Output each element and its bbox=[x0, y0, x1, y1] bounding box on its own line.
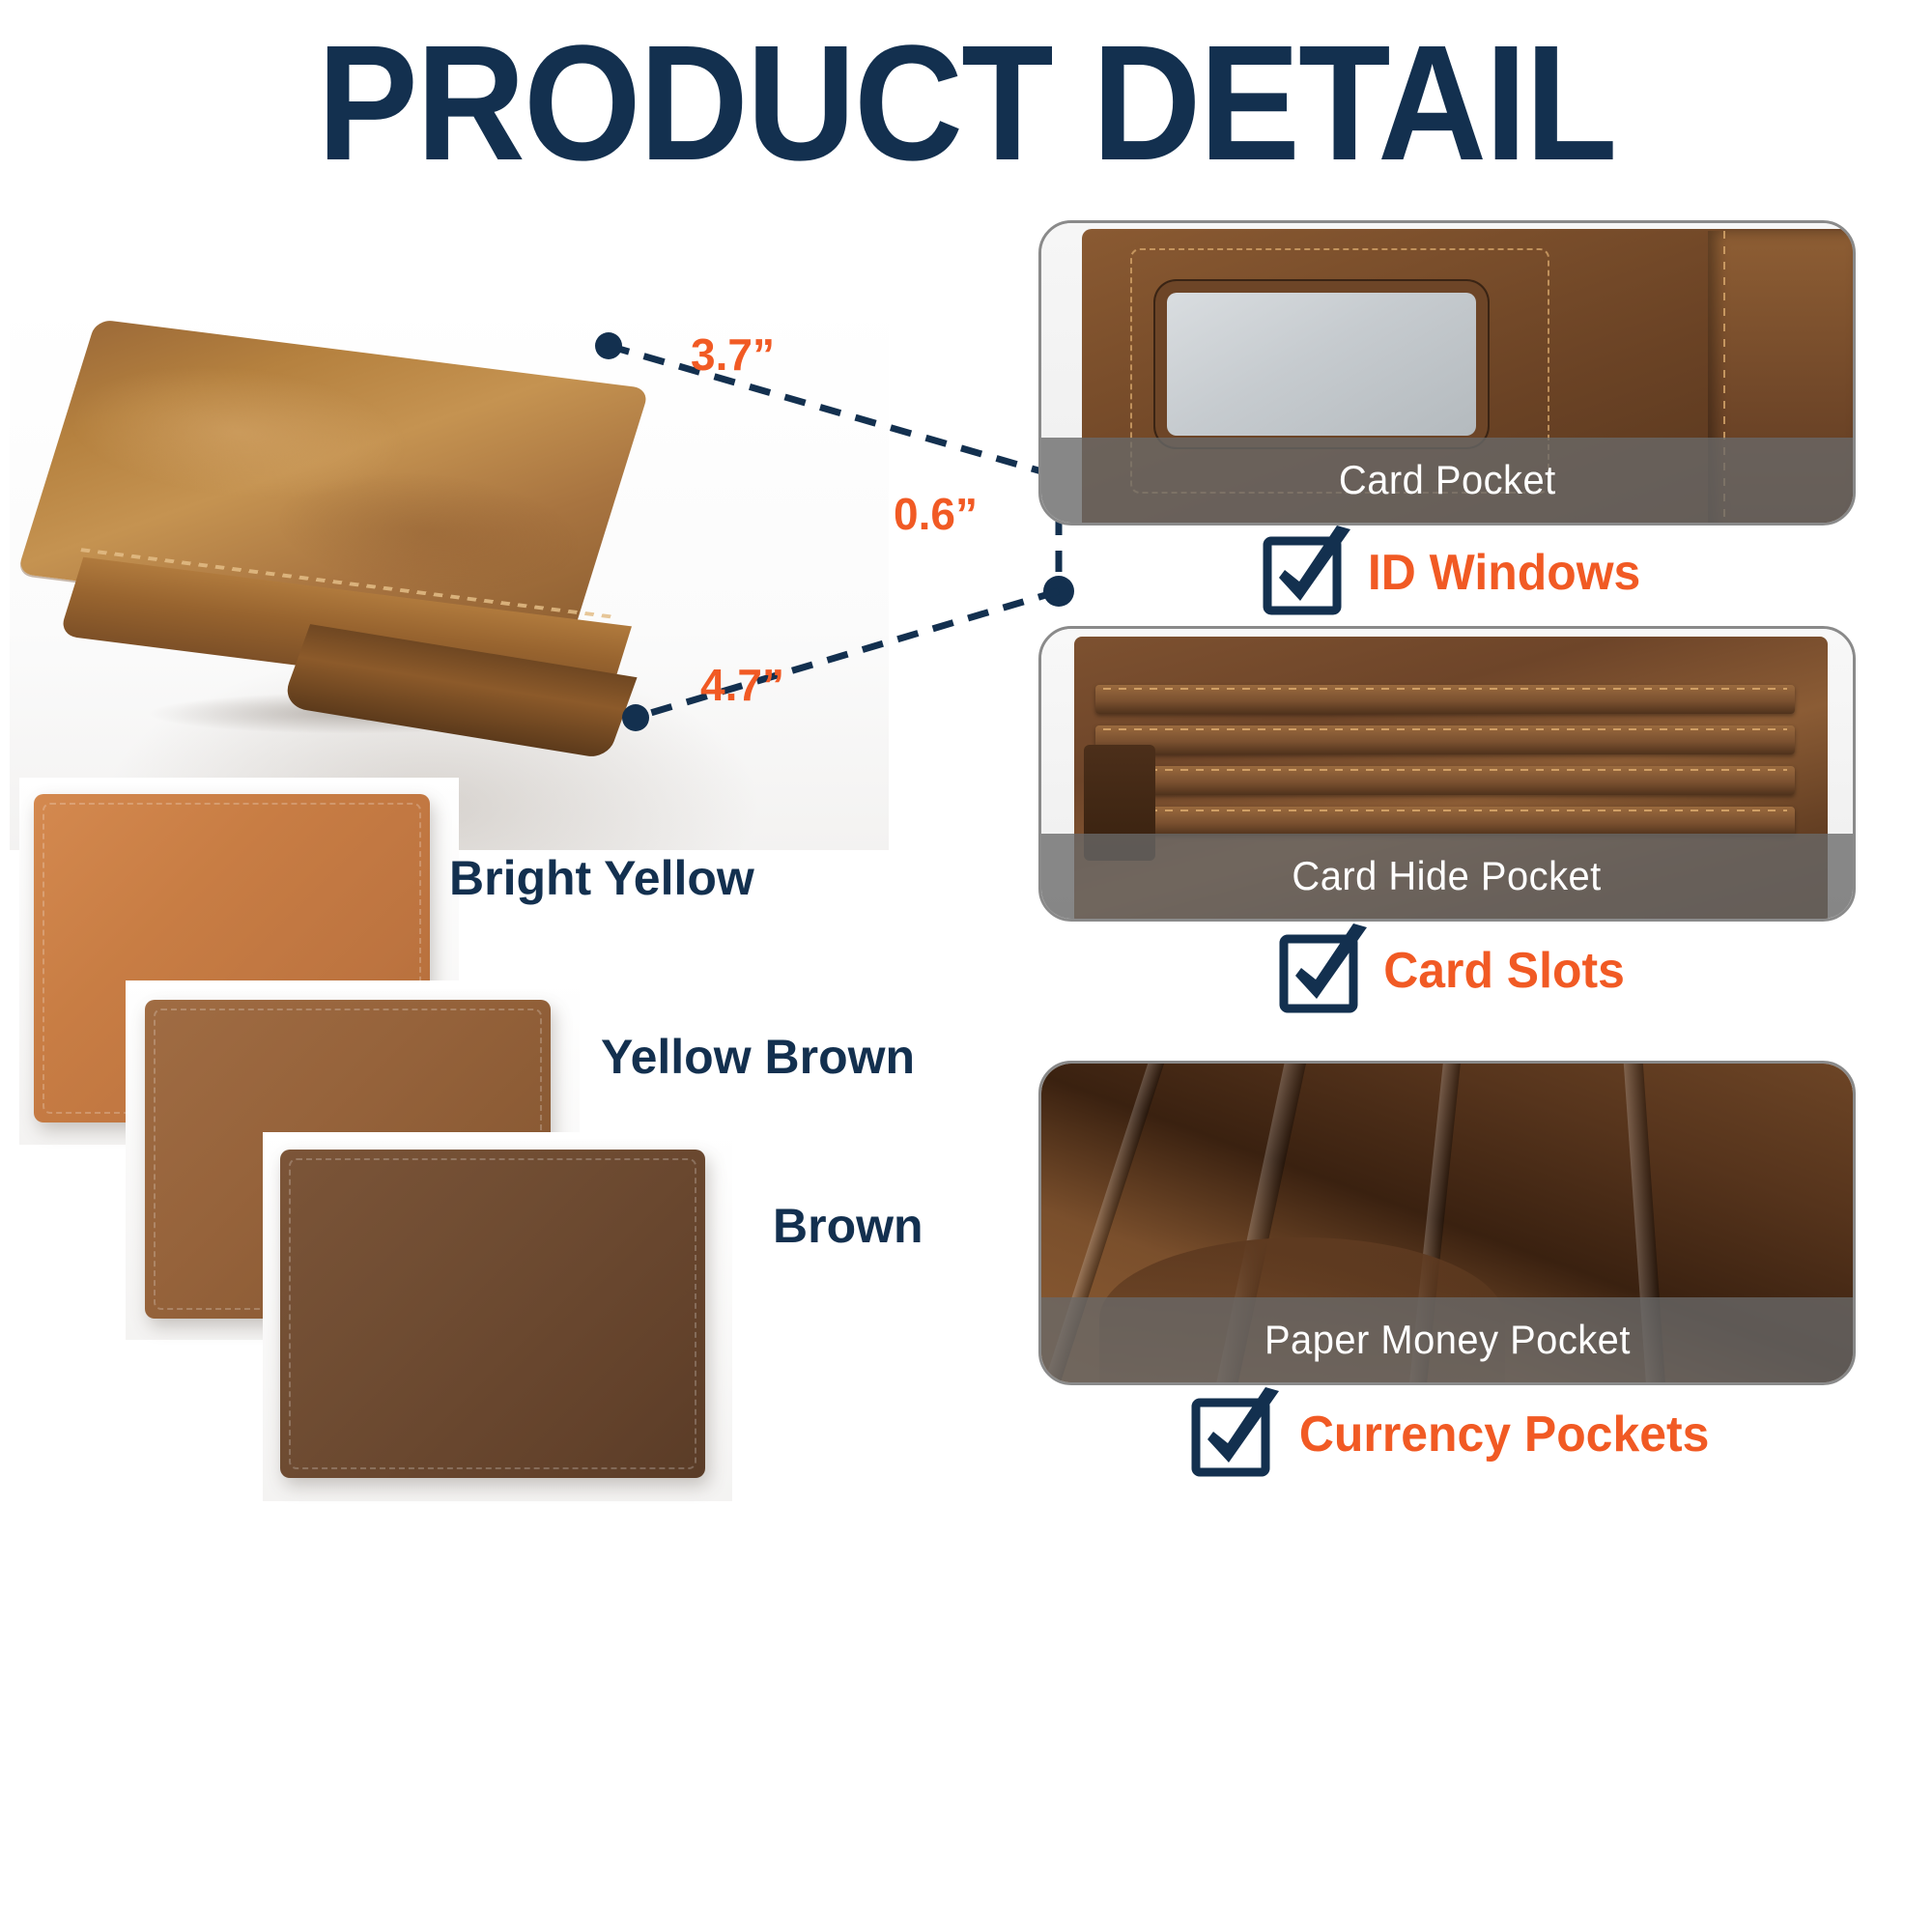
dim-dot-bottom-left bbox=[622, 704, 649, 731]
panel-caption-text: Card Hide Pocket bbox=[1293, 853, 1602, 899]
panel-caption-text: Card Pocket bbox=[1339, 457, 1556, 503]
panel-caption-bar: Card Pocket bbox=[1041, 438, 1853, 523]
feature-row-card-slots: Card Slots bbox=[1038, 927, 1850, 1014]
feature-panel-paper-money-pocket[interactable]: Paper Money Pocket bbox=[1038, 1061, 1856, 1385]
feature-row-currency-pockets: Currency Pockets bbox=[1038, 1391, 1850, 1478]
left-column: 3.7” 0.6” 4.7” Bright Yellow Yellow Brow… bbox=[0, 193, 1014, 1932]
panel-caption-bar: Paper Money Pocket bbox=[1041, 1297, 1853, 1382]
checkbox-checked-icon[interactable] bbox=[1278, 933, 1353, 1009]
feature-label-currency-pockets: Currency Pockets bbox=[1299, 1406, 1710, 1463]
color-name-bright-yellow: Bright Yellow bbox=[449, 850, 754, 906]
checkbox-checked-icon[interactable] bbox=[1262, 535, 1337, 611]
dimension-label-thickness: 0.6” bbox=[894, 488, 978, 540]
feature-panel-card-hide-pocket[interactable]: Card Hide Pocket bbox=[1038, 626, 1856, 922]
feature-label-id-windows: ID Windows bbox=[1368, 544, 1640, 602]
color-name-yellow-brown: Yellow Brown bbox=[601, 1029, 915, 1085]
color-name-brown: Brown bbox=[773, 1198, 923, 1254]
feature-row-id-windows: ID Windows bbox=[1038, 529, 1850, 616]
dimension-label-width: 3.7” bbox=[691, 328, 775, 381]
checkbox-checked-icon[interactable] bbox=[1190, 1397, 1265, 1472]
panel-caption-bar: Card Hide Pocket bbox=[1041, 834, 1853, 919]
dim-dot-top-left bbox=[595, 332, 622, 359]
feature-label-card-slots: Card Slots bbox=[1383, 942, 1625, 1000]
color-variants: Bright Yellow Yellow Brown Brown bbox=[0, 773, 1014, 1932]
dimension-label-length: 4.7” bbox=[700, 659, 784, 711]
feature-panel-card-pocket[interactable]: Card Pocket bbox=[1038, 220, 1856, 526]
panel-caption-text: Paper Money Pocket bbox=[1264, 1317, 1631, 1363]
color-swatch-brown[interactable] bbox=[280, 1150, 705, 1478]
right-column: Card Pocket ID Windows Card Hid bbox=[1029, 0, 1932, 1932]
dim-line-width bbox=[609, 346, 1055, 475]
